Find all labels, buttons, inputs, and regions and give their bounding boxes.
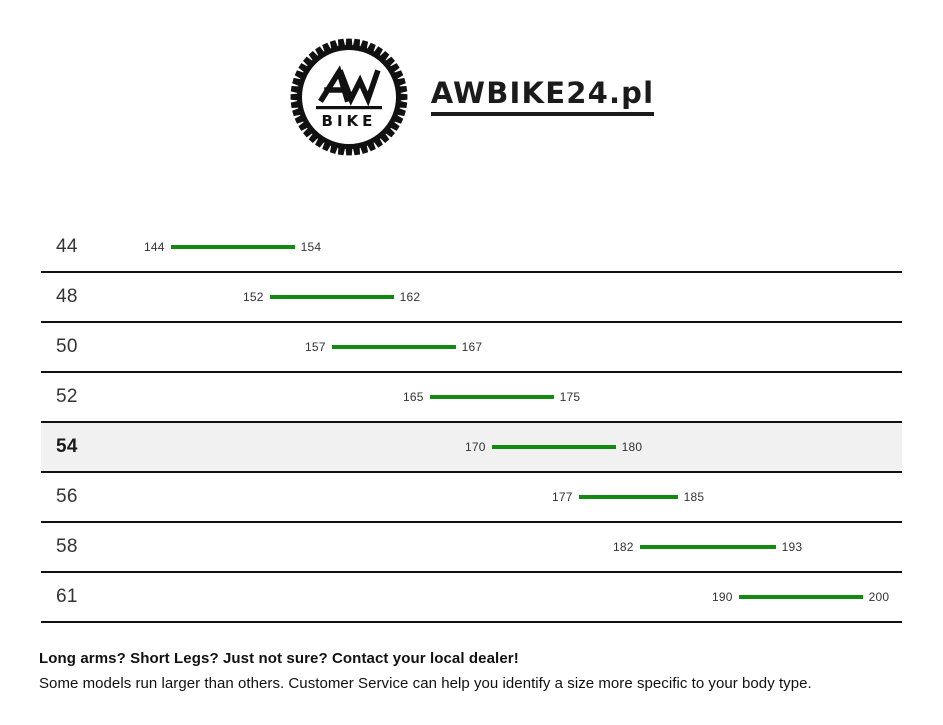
size-label: 50 [56, 336, 78, 358]
range-max-value: 175 [560, 391, 581, 403]
footer-title: Long arms? Short Legs? Just not sure? Co… [39, 648, 909, 670]
range-min-value: 177 [552, 491, 573, 503]
brand-wordmark: AWBIKE24.pl [431, 79, 655, 116]
range-bar [640, 545, 776, 549]
range-min-value: 157 [305, 341, 326, 353]
brand-wordmark-text: AWBIKE24.pl [431, 79, 655, 108]
size-row[interactable]: 54170180 [41, 423, 902, 473]
brand-wordmark-underline [431, 112, 655, 116]
size-label: 44 [56, 236, 78, 258]
size-row[interactable]: 56177185 [41, 473, 902, 523]
awbike-gear-logo-icon: BIKE [289, 37, 409, 157]
size-row[interactable]: 50157167 [41, 323, 902, 373]
size-range-chart: 4414415448152162501571675216517554170180… [41, 223, 902, 623]
range-bar [270, 295, 394, 299]
footer-note: Long arms? Short Legs? Just not sure? Co… [39, 648, 909, 695]
size-label: 56 [56, 486, 78, 508]
range-bar [430, 395, 554, 399]
size-label: 58 [56, 536, 78, 558]
range-max-value: 180 [622, 441, 643, 453]
size-label: 61 [56, 586, 78, 608]
height-range: 152162 [243, 291, 420, 303]
height-range: 177185 [552, 491, 704, 503]
range-bar [171, 245, 295, 249]
size-row[interactable]: 61190200 [41, 573, 902, 623]
range-bar [739, 595, 863, 599]
range-max-value: 200 [869, 591, 890, 603]
height-range: 157167 [305, 341, 482, 353]
range-max-value: 154 [301, 241, 322, 253]
range-max-value: 193 [782, 541, 803, 553]
height-range: 170180 [465, 441, 642, 453]
height-range: 165175 [403, 391, 580, 403]
size-label: 52 [56, 386, 78, 408]
range-bar [492, 445, 616, 449]
height-range: 190200 [712, 591, 889, 603]
range-min-value: 170 [465, 441, 486, 453]
range-max-value: 167 [462, 341, 483, 353]
size-label: 48 [56, 286, 78, 308]
size-row[interactable]: 44144154 [41, 223, 902, 273]
range-max-value: 162 [400, 291, 421, 303]
size-label: 54 [56, 436, 78, 458]
footer-subtitle: Some models run larger than others. Cust… [39, 673, 909, 696]
range-min-value: 182 [613, 541, 634, 553]
svg-text:BIKE: BIKE [321, 112, 376, 130]
range-bar [332, 345, 456, 349]
range-max-value: 185 [684, 491, 705, 503]
size-row[interactable]: 48152162 [41, 273, 902, 323]
range-min-value: 165 [403, 391, 424, 403]
range-min-value: 152 [243, 291, 264, 303]
range-min-value: 190 [712, 591, 733, 603]
size-row[interactable]: 52165175 [41, 373, 902, 423]
range-bar [579, 495, 678, 499]
brand-header: BIKE AWBIKE24.pl [0, 22, 943, 172]
size-chart-page: BIKE AWBIKE24.pl 44144154481521625015716… [0, 0, 943, 725]
height-range: 144154 [144, 241, 321, 253]
range-min-value: 144 [144, 241, 165, 253]
height-range: 182193 [613, 541, 802, 553]
size-row[interactable]: 58182193 [41, 523, 902, 573]
